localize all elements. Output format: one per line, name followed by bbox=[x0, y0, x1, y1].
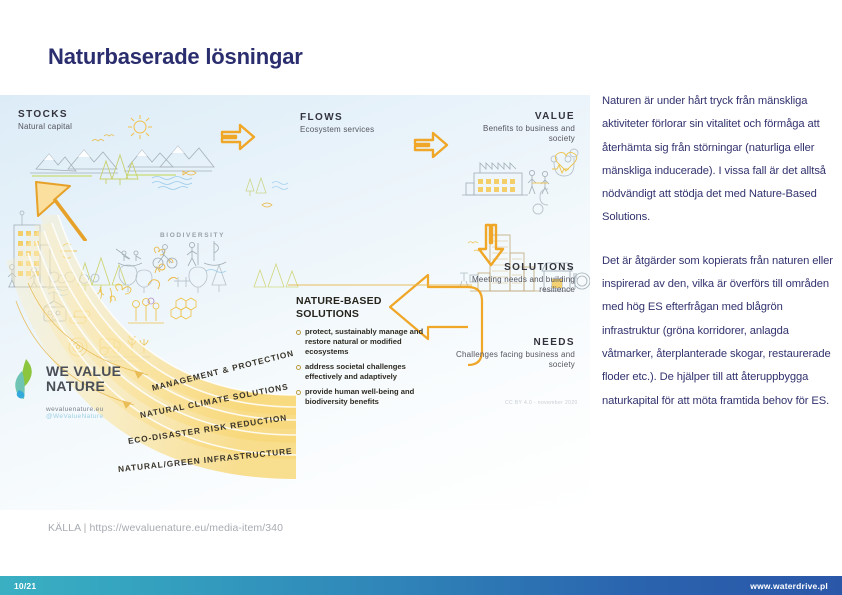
nature-based-solutions-panel: NATURE-BASED SOLUTIONS protect, sustaina… bbox=[296, 295, 444, 412]
value-subtitle: Benefits to business and society bbox=[455, 124, 575, 144]
body-paragraph-1: Naturen är under hårt tryck från mänskli… bbox=[602, 90, 838, 230]
infographic-image: STOCKS Natural capital FLOWS Ecosystem s… bbox=[0, 95, 590, 510]
nbs-bullet: protect, sustainably manage and restore … bbox=[296, 327, 444, 357]
we-value-nature-logo: WE VALUE NATURE wevaluenature.eu @WeValu… bbox=[10, 357, 150, 420]
logo-handle: @WeValueNature bbox=[46, 413, 150, 420]
infographic-illustration bbox=[0, 95, 590, 510]
arrow-stocks-to-flows bbox=[222, 125, 254, 149]
section-label-flows: FLOWS Ecosystem services bbox=[300, 112, 374, 135]
logo-line-1: WE VALUE bbox=[46, 364, 121, 379]
stocks-subtitle: Natural capital bbox=[18, 122, 72, 132]
footer-website: www.waterdrive.pl bbox=[750, 581, 828, 591]
body-paragraph-2: Det är åtgärder som kopierats från natur… bbox=[602, 250, 838, 413]
section-label-needs: NEEDS Challenges facing business and soc… bbox=[440, 337, 575, 370]
needs-heading: NEEDS bbox=[440, 337, 575, 348]
page-indicator: 10/21 bbox=[14, 581, 36, 591]
section-label-value: VALUE Benefits to business and society bbox=[455, 111, 575, 144]
logo-line-2: NATURE bbox=[46, 379, 121, 394]
section-label-solutions: SOLUTIONS Meeting needs and building res… bbox=[455, 262, 575, 295]
arrow-flows-to-value bbox=[415, 133, 447, 157]
body-text-column: Naturen är under hårt tryck från mänskli… bbox=[602, 90, 838, 413]
leaf-logo-icon bbox=[10, 357, 40, 401]
section-label-stocks: STOCKS Natural capital bbox=[18, 109, 72, 132]
source-caption: KÄLLA | https://wevaluenature.eu/media-i… bbox=[48, 522, 283, 534]
solutions-heading: SOLUTIONS bbox=[455, 262, 575, 273]
nbs-panel-title: NATURE-BASED SOLUTIONS bbox=[296, 295, 444, 320]
value-heading: VALUE bbox=[455, 111, 575, 122]
nbs-bullet: address societal challenges effectively … bbox=[296, 362, 444, 382]
stocks-heading: STOCKS bbox=[18, 109, 72, 120]
needs-subtitle: Challenges facing business and society bbox=[440, 350, 575, 370]
slide: Naturbaserade lösningar bbox=[0, 0, 842, 595]
flows-heading: FLOWS bbox=[300, 112, 374, 123]
nbs-bullet-list: protect, sustainably manage and restore … bbox=[296, 327, 444, 407]
license-note: CC BY 4.0 - november 2020 bbox=[505, 400, 578, 406]
nbs-bullet: provide human well-being and biodiversit… bbox=[296, 387, 444, 407]
solutions-subtitle: Meeting needs and building resilience bbox=[455, 275, 575, 295]
footer-bar: 10/21 www.waterdrive.pl bbox=[0, 576, 842, 595]
page-title: Naturbaserade lösningar bbox=[48, 44, 303, 70]
biodiversity-label: BIODIVERSITY bbox=[160, 232, 225, 239]
logo-website: wevaluenature.eu bbox=[46, 406, 150, 413]
flows-subtitle: Ecosystem services bbox=[300, 125, 374, 135]
